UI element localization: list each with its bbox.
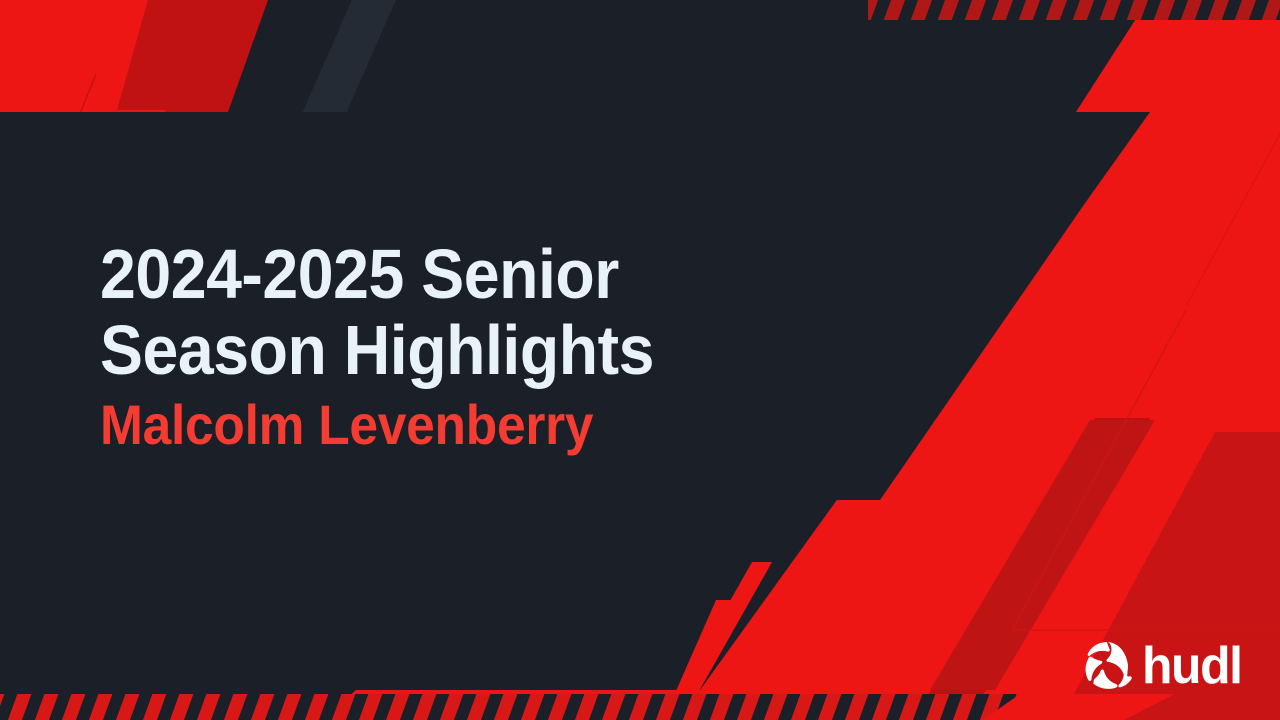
title-block: 2024-2025 Senior Season Highlights Malco… (100, 236, 820, 456)
title-line-2: Season Highlights (100, 312, 762, 388)
stripe-band-top-right (868, 0, 1280, 20)
subject-name: Malcolm Levenberry (100, 394, 762, 456)
hudl-pinwheel-icon (1081, 640, 1133, 692)
stripe-band-bottom-left (0, 694, 1070, 720)
hudl-wordmark: hudl (1142, 640, 1242, 692)
highlight-title-card: 2024-2025 Senior Season Highlights Malco… (0, 0, 1280, 720)
title-line-1: 2024-2025 Senior (100, 236, 762, 312)
hudl-logo: hudl (1081, 640, 1246, 692)
